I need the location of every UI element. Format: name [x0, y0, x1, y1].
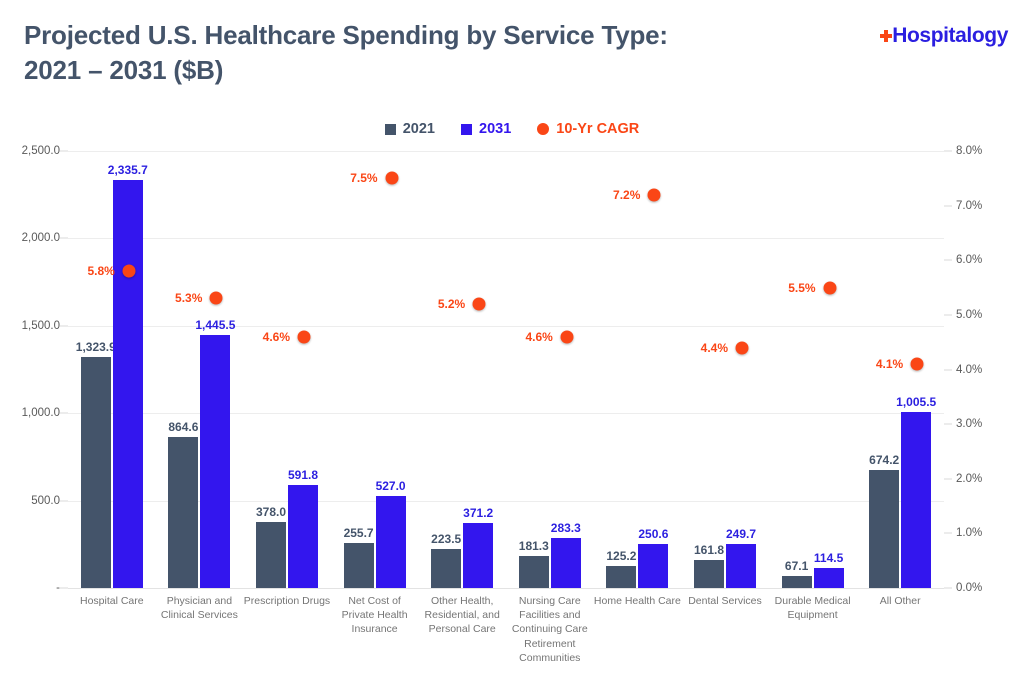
x-axis-category-label: Nursing Care Facilities and Continuing C… [506, 594, 594, 665]
y-axis-left-tick [60, 151, 68, 152]
bar-value-label: 591.8 [288, 468, 318, 482]
cagr-marker[interactable] [298, 330, 311, 343]
cagr-value-label: 5.8% [87, 264, 121, 278]
bar-value-label: 864.6 [168, 420, 198, 434]
cagr-marker[interactable] [648, 188, 661, 201]
y-axis-right-tick [944, 205, 952, 206]
bar-2031[interactable]: 249.7 [726, 544, 756, 588]
x-axis-category-label: Physician and Clinical Services [156, 594, 244, 622]
y-axis-right-tick-label: 1.0% [956, 527, 1012, 539]
bar-group: 1,323.92,335.7 [68, 151, 156, 588]
bar-value-label: 250.6 [638, 527, 668, 541]
x-axis-category-label: Other Health, Residential, and Personal … [418, 594, 506, 637]
y-axis-left-tick-label: 1,000.0 [4, 407, 60, 419]
bar-group: 161.8249.7 [681, 151, 769, 588]
bar-pair: 255.7527.0 [331, 151, 419, 588]
bar-value-label: 67.1 [785, 559, 808, 573]
bar-value-label: 161.8 [694, 543, 724, 557]
bar-group: 378.0591.8 [243, 151, 331, 588]
bar-2021[interactable]: 255.7 [344, 543, 374, 588]
bar-pair: 67.1114.5 [769, 151, 857, 588]
cagr-value-label: 4.6% [263, 330, 297, 344]
bar-2031[interactable]: 1,005.5 [901, 412, 931, 588]
y-axis-right-tick [944, 369, 952, 370]
cagr-value-label: 5.2% [438, 297, 472, 311]
bar-value-label: 114.5 [814, 551, 843, 565]
y-axis-right-tick-label: 8.0% [956, 145, 1012, 157]
y-axis-right-tick [944, 478, 952, 479]
cagr-value-label: 7.5% [350, 171, 384, 185]
y-axis-right-tick-label: 5.0% [956, 309, 1012, 321]
y-axis-left-tick [60, 413, 68, 414]
y-axis-right-tick [944, 588, 952, 589]
cagr-value-label: 7.2% [613, 188, 647, 202]
cagr-marker[interactable] [911, 358, 924, 371]
y-axis-left-tick-label: 2,000.0 [4, 232, 60, 244]
y-axis-left-tick-label: - [4, 582, 60, 594]
bar-2021[interactable]: 674.2 [869, 470, 899, 588]
bar-group: 255.7527.0 [331, 151, 419, 588]
x-axis-category-label: All Other [856, 594, 944, 608]
cagr-marker[interactable] [122, 265, 135, 278]
bar-value-label: 371.2 [463, 506, 493, 520]
bar-pair: 223.5371.2 [418, 151, 506, 588]
x-axis-category-label: Durable Medical Equipment [769, 594, 857, 622]
bar-value-label: 1,323.9 [76, 340, 116, 354]
bar-2021[interactable]: 223.5 [431, 549, 461, 588]
cagr-value-label: 5.3% [175, 291, 209, 305]
bar-2021[interactable]: 1,323.9 [81, 357, 111, 588]
bar-pair: 161.8249.7 [681, 151, 769, 588]
y-axis-left-tick [60, 238, 68, 239]
y-axis-right-tick-label: 7.0% [956, 200, 1012, 212]
y-axis-right-tick [944, 424, 952, 425]
y-axis-left-tick-label: 1,500.0 [4, 320, 60, 332]
bar-value-label: 2,335.7 [108, 163, 148, 177]
y-axis-left-tick [60, 325, 68, 326]
bar-value-label: 181.3 [519, 539, 549, 553]
y-axis-left-tick-label: 2,500.0 [4, 145, 60, 157]
bar-2021[interactable]: 161.8 [694, 560, 724, 588]
bar-pair: 181.3283.3 [506, 151, 594, 588]
bar-value-label: 255.7 [344, 526, 374, 540]
x-axis-category-label: Prescription Drugs [243, 594, 331, 608]
bar-2031[interactable]: 1,445.5 [200, 335, 230, 588]
chart-page: Projected U.S. Healthcare Spending by Se… [0, 0, 1024, 673]
y-axis-right-tick-label: 0.0% [956, 582, 1012, 594]
cagr-value-label: 4.1% [876, 357, 910, 371]
cagr-value-label: 4.4% [701, 341, 735, 355]
bar-value-label: 223.5 [431, 532, 461, 546]
bar-2021[interactable]: 864.6 [168, 437, 198, 588]
x-axis-category-label: Hospital Care [68, 594, 156, 608]
bar-pair: 1,323.92,335.7 [68, 151, 156, 588]
bar-2021[interactable]: 125.2 [606, 566, 636, 588]
bar-pair: 864.61,445.5 [156, 151, 244, 588]
bar-value-label: 249.7 [726, 527, 756, 541]
bar-2021[interactable]: 378.0 [256, 522, 286, 588]
cagr-marker[interactable] [560, 330, 573, 343]
y-axis-right-tick-label: 6.0% [956, 254, 1012, 266]
bar-group: 67.1114.5 [769, 151, 857, 588]
y-axis-right-tick [944, 151, 952, 152]
cagr-marker[interactable] [210, 292, 223, 305]
bar-pair: 378.0591.8 [243, 151, 331, 588]
bar-group: 181.3283.3 [506, 151, 594, 588]
bar-value-label: 125.2 [606, 549, 636, 563]
bar-2031[interactable]: 283.3 [551, 538, 581, 588]
bar-2031[interactable]: 114.5 [814, 568, 844, 588]
y-axis-left-tick-label: 500.0 [4, 495, 60, 507]
y-axis-right-tick [944, 533, 952, 534]
plot-area: 1,323.92,335.75.8%864.61,445.55.3%378.05… [68, 151, 944, 588]
bar-2031[interactable]: 250.6 [638, 544, 668, 588]
bar-2031[interactable]: 371.2 [463, 523, 493, 588]
bar-group: 864.61,445.5 [156, 151, 244, 588]
cagr-marker[interactable] [473, 297, 486, 310]
x-axis-category-label: Net Cost of Private Health Insurance [331, 594, 419, 637]
bar-2031[interactable]: 591.8 [288, 485, 318, 588]
bar-value-label: 378.0 [256, 505, 286, 519]
y-axis-left-tick [60, 588, 68, 589]
y-axis-right-tick-label: 4.0% [956, 364, 1012, 376]
bar-value-label: 527.0 [376, 479, 406, 493]
y-axis-right-tick-label: 3.0% [956, 418, 1012, 430]
bar-2031[interactable]: 2,335.7 [113, 180, 143, 588]
bar-pair: 125.2250.6 [594, 151, 682, 588]
bar-2021[interactable]: 67.1 [782, 576, 812, 588]
cagr-marker[interactable] [736, 341, 749, 354]
bar-value-label: 1,445.5 [195, 318, 235, 332]
y-axis-right-tick-label: 2.0% [956, 473, 1012, 485]
bar-group: 125.2250.6 [594, 151, 682, 588]
cagr-value-label: 4.6% [525, 330, 559, 344]
x-axis-category-label: Home Health Care [594, 594, 682, 608]
bar-2021[interactable]: 181.3 [519, 556, 549, 588]
cagr-marker[interactable] [385, 172, 398, 185]
bar-value-label: 283.3 [551, 521, 581, 535]
axis-baseline [68, 588, 944, 589]
bar-value-label: 674.2 [869, 453, 899, 467]
bar-value-label: 1,005.5 [896, 395, 936, 409]
y-axis-right-tick [944, 314, 952, 315]
y-axis-right-tick [944, 260, 952, 261]
chart-area: 1,323.92,335.75.8%864.61,445.55.3%378.05… [0, 0, 1024, 673]
cagr-value-label: 5.5% [788, 281, 822, 295]
x-axis-category-label: Dental Services [681, 594, 769, 608]
cagr-marker[interactable] [823, 281, 836, 294]
bar-group: 223.5371.2 [418, 151, 506, 588]
bar-2031[interactable]: 527.0 [376, 496, 406, 588]
y-axis-left-tick [60, 500, 68, 501]
